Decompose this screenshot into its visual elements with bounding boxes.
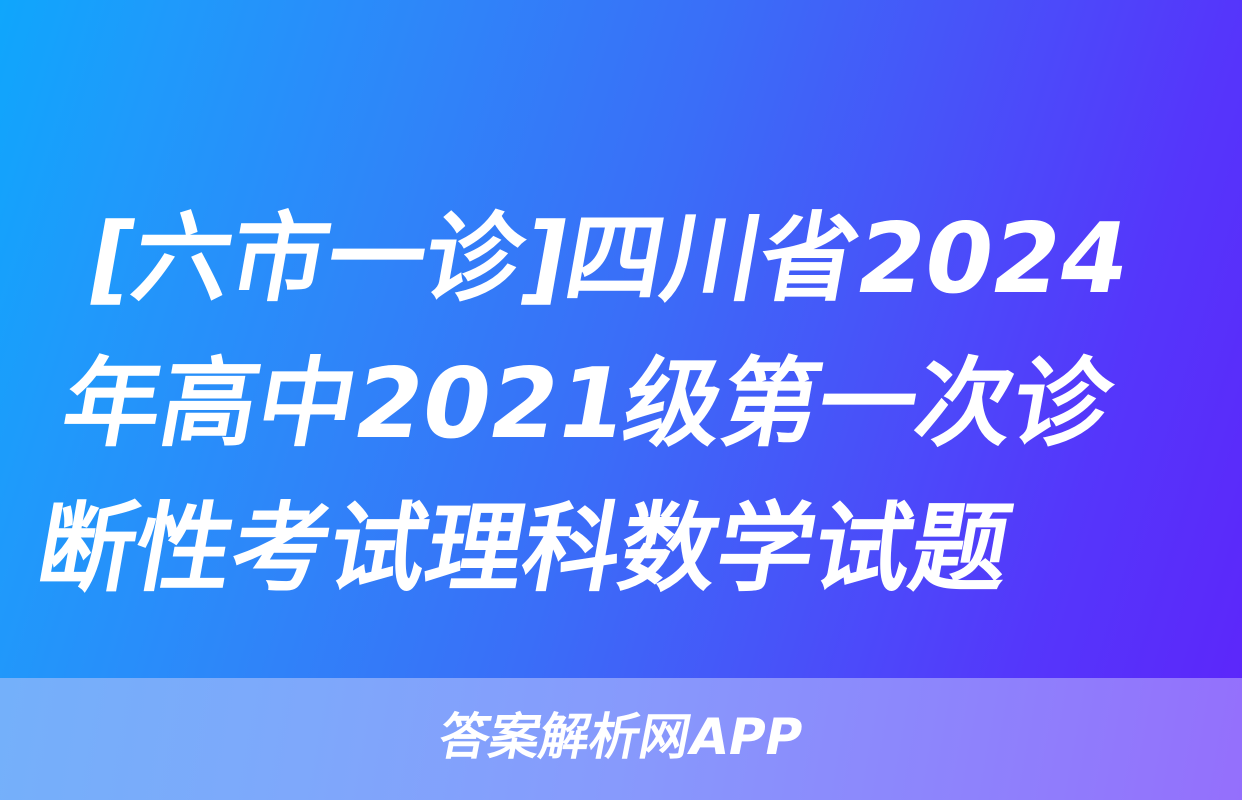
brand-watermark: 答案解析网APP (0, 706, 1242, 768)
brand-watermark-label: 答案解析网APP (434, 706, 808, 768)
exam-paper-cover-poster: [六市一诊]四川省2024年高中2021级第一次诊断性考试理科数学试题 答案解析… (0, 0, 1242, 800)
page-title-text: [六市一诊]四川省2024年高中2021级第一次诊断性考试理科数学试题 (26, 186, 1149, 621)
page-title: [六市一诊]四川省2024年高中2021级第一次诊断性考试理科数学试题 (103, 186, 1149, 621)
